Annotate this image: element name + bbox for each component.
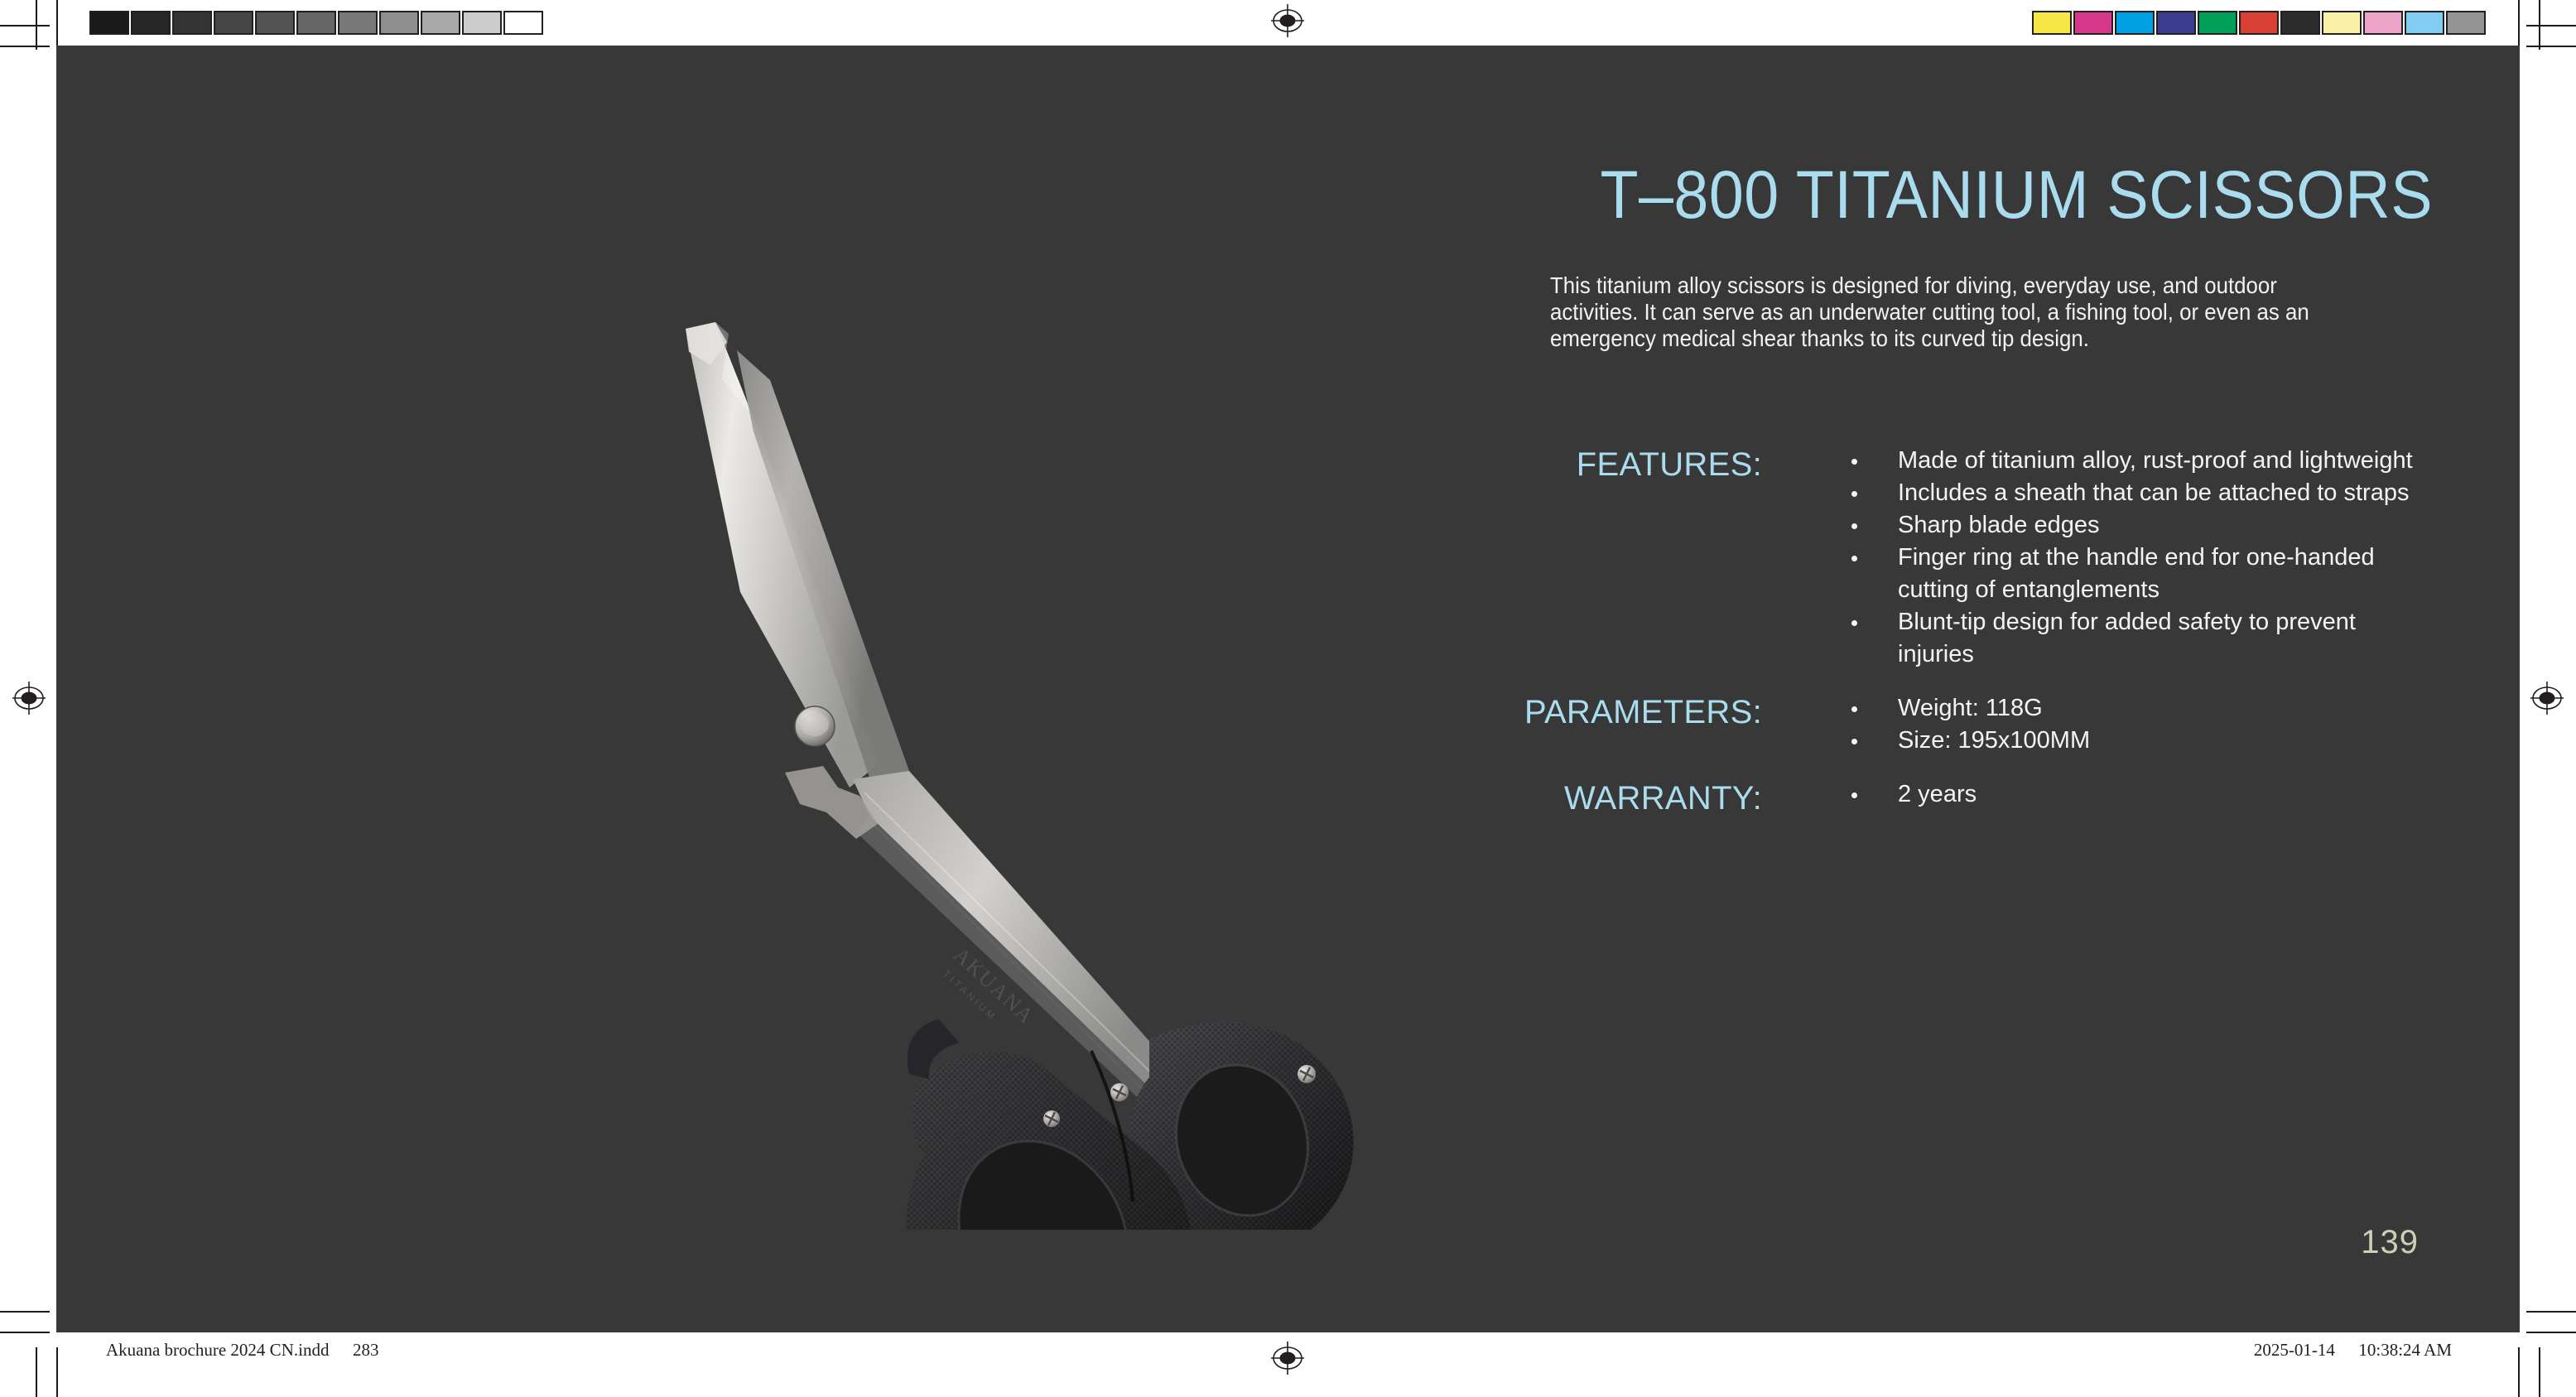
bullet-icon [1851,556,1857,561]
page-title: T–800 TITANIUM SCISSORS [1351,161,2433,229]
bullet-icon [1851,459,1857,465]
bullet-icon [1851,792,1857,798]
crop-mark-top-left-vertical [56,0,58,50]
crop-mark-bottom-left-vertical-2 [36,1347,37,1397]
color-patch-2 [2115,11,2155,35]
spec-section-warranty: WARRANTY: 2 years [1257,778,2433,817]
slug-date: 2025-01-14 [2254,1340,2335,1360]
crop-mark-top-right-vertical [2518,0,2520,50]
grayscale-patch-9 [462,11,502,35]
list-item-label: Blunt-tip design for added safety to pre… [1898,609,2356,667]
color-patch-1 [2073,11,2113,35]
grayscale-patch-8 [421,11,460,35]
color-patch-0 [2032,11,2072,35]
spec-items-warranty: 2 years [1762,778,2433,811]
product-description: This titanium alloy scissors is designed… [1550,272,2330,352]
spec-section-features: FEATURES: Made of titanium alloy, rust-p… [1257,445,2433,671]
slug-sheet-number: 283 [353,1340,379,1360]
list-item: 2 years [1845,778,2433,811]
crop-mark-bottom-right-vertical [2518,1347,2520,1397]
list-item: Blunt-tip design for added safety to pre… [1845,606,2433,671]
print-proof-sheet: AKUANA TITANIUM [0,0,2576,1397]
crop-mark-bottom-left-horizontal [0,1332,50,1333]
list-item-label: Sharp blade edges [1898,512,2099,538]
crop-mark-top-left-horizontal [0,46,50,47]
spec-label-warranty: WARRANTY: [1257,778,1762,817]
list-item: Sharp blade edges [1845,509,2433,542]
list-item: Weight: 118G [1845,692,2433,725]
list-item-label: Size: 195x100MM [1898,727,2090,754]
color-patch-6 [2280,11,2320,35]
registration-target-icon-right [2528,679,2566,717]
list-item-label: Finger ring at the handle end for one-ha… [1898,544,2375,603]
color-patch-7 [2322,11,2362,35]
bullet-icon [1851,523,1857,529]
grayscale-patch-7 [379,11,419,35]
list-item-label: Made of titanium alloy, rust-proof and l… [1898,447,2413,474]
crop-mark-bottom-left-horizontal-2 [0,1311,50,1313]
color-patch-8 [2363,11,2403,35]
crop-mark-top-left-horizontal-2 [0,25,50,26]
crop-mark-top-right-horizontal [2526,46,2576,47]
crop-mark-bottom-left-vertical [56,1347,58,1397]
registration-target-icon-top [1269,2,1307,40]
bullet-icon [1851,620,1857,626]
list-item: Made of titanium alloy, rust-proof and l… [1845,445,2433,477]
product-content-column: T–800 TITANIUM SCISSORS This titanium al… [1257,161,2433,825]
crop-mark-bottom-right-vertical-2 [2539,1347,2540,1397]
process-color-bar [2030,9,2487,36]
spec-label-parameters: PARAMETERS: [1257,692,1762,730]
spec-label-features: FEATURES: [1257,445,1762,483]
page-number: 139 [2361,1224,2419,1261]
bullet-icon [1851,739,1857,744]
list-item-label: 2 years [1898,781,1977,807]
registration-target-icon-left [10,679,48,717]
grayscale-step-wedge [88,9,545,36]
list-item: Size: 195x100MM [1845,725,2433,757]
grayscale-patch-4 [255,11,295,35]
crop-mark-bottom-right-horizontal [2526,1332,2576,1333]
slug-timestamp: 2025-01-14 10:38:24 AM [2254,1340,2452,1361]
crop-mark-top-right-horizontal-2 [2526,25,2576,26]
color-patch-10 [2446,11,2486,35]
color-patch-5 [2239,11,2279,35]
color-patch-9 [2405,11,2444,35]
grayscale-patch-1 [131,11,171,35]
brochure-page: AKUANA TITANIUM [56,46,2520,1332]
spec-block: FEATURES: Made of titanium alloy, rust-p… [1257,445,2433,817]
slug-time: 10:38:24 AM [2358,1340,2452,1360]
slug-filename-text: Akuana brochure 2024 CN.indd [106,1340,329,1360]
grayscale-patch-10 [503,11,543,35]
grayscale-patch-0 [89,11,129,35]
list-item: Includes a sheath that can be attached t… [1845,477,2433,509]
spec-items-parameters: Weight: 118G Size: 195x100MM [1762,692,2433,757]
color-patch-3 [2156,11,2196,35]
grayscale-patch-2 [172,11,212,35]
list-item: Finger ring at the handle end for one-ha… [1845,542,2433,606]
color-patch-4 [2198,11,2237,35]
list-item-label: Weight: 118G [1898,695,2043,721]
grayscale-patch-6 [338,11,378,35]
bullet-icon [1851,491,1857,497]
slug-filename: Akuana brochure 2024 CN.indd 283 [106,1340,378,1361]
spec-items-features: Made of titanium alloy, rust-proof and l… [1762,445,2433,671]
spec-section-parameters: PARAMETERS: Weight: 118G Size: 195x100MM [1257,692,2433,757]
registration-target-icon-bottom [1269,1339,1307,1377]
list-item-label: Includes a sheath that can be attached t… [1898,479,2409,506]
grayscale-patch-5 [296,11,336,35]
bullet-icon [1851,706,1857,712]
crop-mark-bottom-right-horizontal-2 [2526,1311,2576,1313]
grayscale-patch-3 [214,11,253,35]
